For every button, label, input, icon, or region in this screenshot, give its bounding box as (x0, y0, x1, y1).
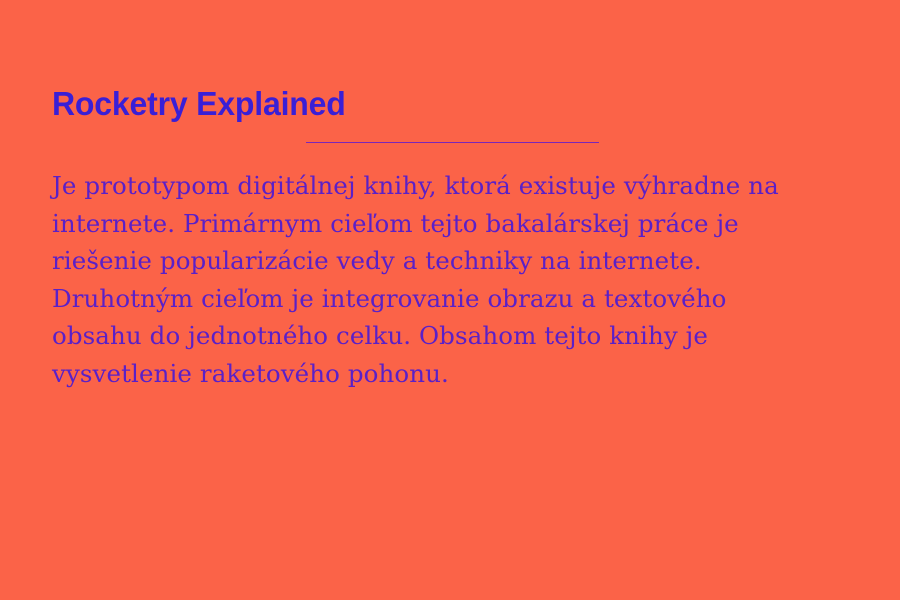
paragraph-line: Druhotným cieľom je integrovanie obrazu … (52, 280, 812, 318)
paragraph-line: riešenie popularizácie vedy a techniky n… (52, 242, 812, 280)
body-paragraph: Je prototypom digitálnej knihy, ktorá ex… (52, 167, 812, 393)
paragraph-line: vysvetlenie raketového pohonu. (52, 355, 812, 393)
text-block: Rocketry Explained Je prototypom digitál… (52, 84, 852, 393)
paragraph-line: internete. Primárnym cieľom tejto bakalá… (52, 205, 812, 243)
title-divider (306, 142, 599, 143)
paragraph-line: obsahu do jednotného celku. Obsahom tejt… (52, 317, 812, 355)
paragraph-line: Je prototypom digitálnej knihy, ktorá ex… (52, 167, 812, 205)
page-title: Rocketry Explained (52, 84, 828, 124)
slide-canvas: Rocketry Explained Je prototypom digitál… (0, 0, 900, 600)
